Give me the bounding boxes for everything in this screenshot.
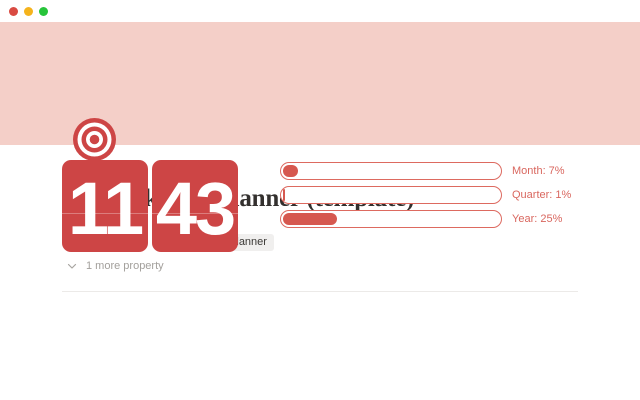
window-titlebar — [0, 0, 640, 22]
month-progress-row: Month: 7% — [280, 162, 571, 180]
weeks-remaining-value: 11 — [62, 172, 148, 246]
weeks-remaining-counter[interactable]: 11 — [62, 160, 148, 252]
flip-card-hinge — [62, 213, 148, 214]
chevron-down-icon — [66, 260, 78, 272]
minimize-button[interactable] — [24, 7, 33, 16]
close-button[interactable] — [9, 7, 18, 16]
countdown-counters: 11 43 — [62, 160, 238, 252]
days-remaining-value: 43 — [152, 172, 238, 246]
flip-card-hinge — [152, 213, 238, 214]
more-properties-toggle[interactable]: 1 more property — [66, 260, 164, 272]
app-window: 12-Week Year Planner (template) Tags per… — [0, 0, 640, 400]
month-progress-track[interactable] — [280, 162, 502, 180]
year-progress-row: Year: 25% — [280, 210, 571, 228]
content-area: 11 43 Month: 7% Quarter: 1% — [0, 160, 640, 255]
days-remaining-counter[interactable]: 43 — [152, 160, 238, 252]
month-progress-fill — [283, 165, 298, 177]
year-progress-label: Year: 25% — [512, 213, 562, 225]
progress-bar-group: Month: 7% Quarter: 1% Year: 25% — [280, 162, 571, 228]
more-properties-label: 1 more property — [86, 260, 164, 272]
year-progress-track[interactable] — [280, 210, 502, 228]
quarter-progress-row: Quarter: 1% — [280, 186, 571, 204]
window-controls — [0, 7, 48, 16]
maximize-button[interactable] — [39, 7, 48, 16]
month-progress-label: Month: 7% — [512, 165, 565, 177]
quarter-progress-track[interactable] — [280, 186, 502, 204]
page-divider — [62, 291, 578, 292]
target-bullseye-icon[interactable] — [72, 117, 117, 162]
quarter-progress-label: Quarter: 1% — [512, 189, 571, 201]
quarter-progress-fill — [283, 189, 285, 201]
year-progress-fill — [283, 213, 337, 225]
